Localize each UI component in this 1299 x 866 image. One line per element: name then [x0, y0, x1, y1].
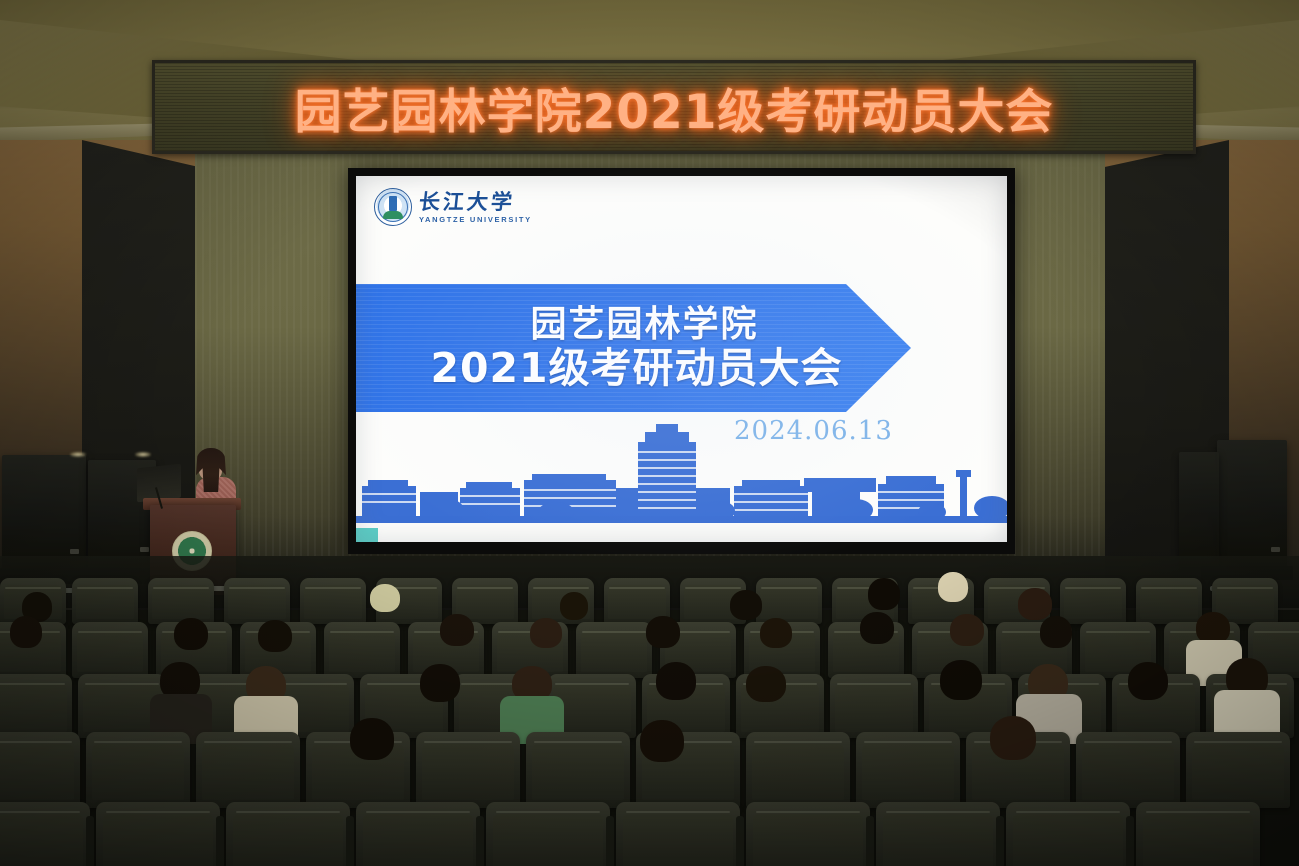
seat — [0, 674, 72, 738]
audience-head — [10, 616, 42, 648]
seat-armrest — [606, 816, 614, 866]
audience-head — [860, 612, 894, 644]
audience-head — [174, 618, 208, 650]
audience-head — [656, 662, 696, 700]
slide-title-band: 园艺园林学院 2021级考研动员大会 — [356, 284, 911, 412]
audience-head — [990, 716, 1036, 760]
audience-head — [760, 618, 792, 648]
seat — [0, 732, 80, 808]
led-panel: 园艺园林学院2021级考研动员大会 — [155, 63, 1193, 151]
seat — [1006, 802, 1130, 866]
seat — [96, 802, 220, 866]
seat — [756, 578, 822, 624]
slide-title-line2: 2021级考研动员大会 — [430, 346, 842, 391]
seat — [324, 622, 400, 678]
audience-head — [560, 592, 588, 620]
seat-armrest — [216, 816, 224, 866]
seat-armrest — [86, 816, 94, 866]
audience-head — [370, 584, 400, 612]
skyline-accent — [356, 528, 378, 542]
seat-armrest — [476, 816, 484, 866]
seat — [1076, 732, 1180, 808]
seat-armrest — [346, 816, 354, 866]
seat — [876, 802, 1000, 866]
seat — [72, 622, 148, 678]
audience-seating — [0, 570, 1299, 866]
seat-armrest — [996, 816, 1004, 866]
seat — [746, 732, 850, 808]
audience-head — [868, 578, 900, 610]
logo-chinese-name: 长江大学 — [418, 191, 533, 212]
seat-armrest — [866, 816, 874, 866]
seat — [1136, 578, 1202, 624]
led-banner-text: 园艺园林学院2021级考研动员大会 — [295, 73, 1054, 142]
seat — [300, 578, 366, 624]
wall-light-left-2 — [135, 452, 151, 457]
decorative-diamonds — [856, 216, 1007, 416]
seat — [1060, 578, 1126, 624]
stage-loudspeaker-left — [2, 455, 86, 570]
seat — [616, 802, 740, 866]
seat — [746, 802, 870, 866]
led-banner: 园艺园林学院2021级考研动员大会 — [152, 60, 1196, 154]
audience-head — [746, 666, 786, 702]
seat-armrest — [736, 816, 744, 866]
audience-head — [530, 618, 562, 648]
seat — [196, 732, 300, 808]
seat — [86, 732, 190, 808]
audience-head — [730, 590, 762, 620]
slide-title-line1: 园艺园林学院 — [530, 305, 758, 345]
seat — [526, 732, 630, 808]
wall-light-left — [70, 452, 86, 457]
audience-head — [940, 660, 982, 700]
seat — [416, 732, 520, 808]
seat — [1186, 732, 1290, 808]
audience-head — [950, 614, 984, 646]
seat — [226, 802, 350, 866]
audience-head — [938, 572, 968, 602]
stage-loudspeaker-right — [1217, 440, 1287, 568]
seat — [148, 578, 214, 624]
auditorium-photo: 园艺园林学院2021级考研动员大会 长江大学 YANGTZE UNIVERSIT… — [0, 0, 1299, 866]
seat — [830, 674, 918, 738]
audience-head — [1040, 616, 1072, 648]
stage-loudspeaker-right-2 — [1179, 452, 1219, 567]
seat — [224, 578, 290, 624]
seat — [1136, 802, 1260, 866]
seat — [576, 622, 652, 678]
audience-head — [258, 620, 292, 652]
seat — [0, 802, 90, 866]
seat — [72, 578, 138, 624]
campus-skyline-icon — [356, 420, 1007, 538]
audience-head — [646, 616, 680, 648]
audience-head — [640, 720, 684, 762]
audience-head — [420, 664, 460, 702]
logo-english-name: YANGTZE UNIVERSITY — [419, 215, 532, 224]
audience-head — [440, 614, 474, 646]
seat-armrest — [1126, 816, 1134, 866]
audience-head — [1128, 662, 1168, 700]
projection-screen: 长江大学 YANGTZE UNIVERSITY 园艺园林学院 2021级考研动员… — [356, 176, 1007, 542]
audience-head — [350, 718, 394, 760]
seat — [486, 802, 610, 866]
university-logo: 长江大学 YANGTZE UNIVERSITY — [374, 188, 532, 226]
university-seal-icon — [374, 188, 412, 226]
seat — [356, 802, 480, 866]
seat — [856, 732, 960, 808]
audience-head — [1018, 588, 1052, 620]
